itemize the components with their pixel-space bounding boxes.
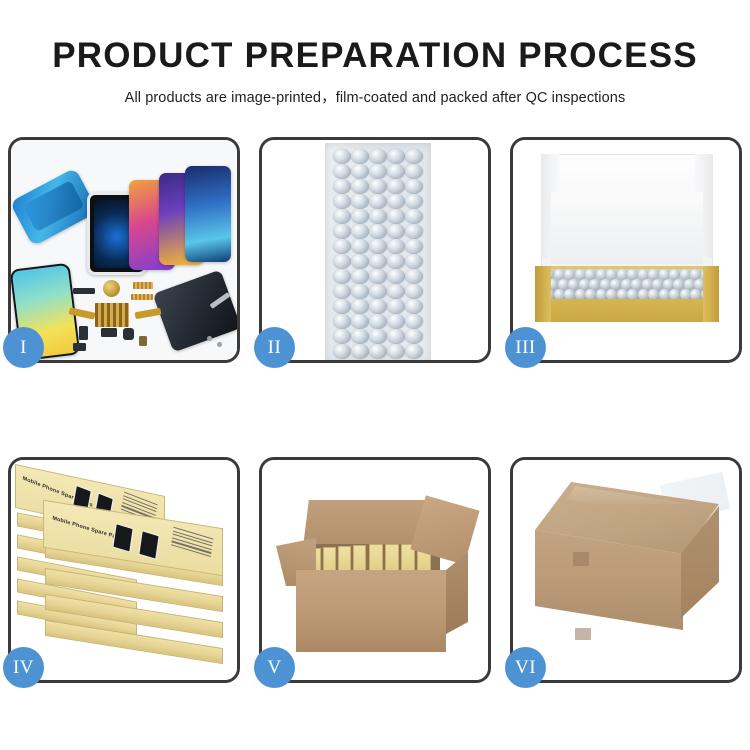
bubble (351, 254, 369, 269)
step-panel-6: VI (510, 457, 742, 683)
gold-contact-grid (95, 303, 129, 327)
bubble (333, 344, 351, 359)
bubble-wrap-pouch (325, 143, 431, 360)
bubble (387, 254, 405, 269)
bubble (333, 194, 351, 209)
step-5-image (262, 460, 488, 680)
bubble (351, 239, 369, 254)
bubble (405, 179, 423, 194)
bubble (351, 269, 369, 284)
bubble (648, 289, 659, 299)
step-badge-1: I (3, 327, 44, 368)
bubble (405, 224, 423, 239)
component-chip (123, 328, 134, 340)
bubble (351, 149, 369, 164)
bubble (387, 194, 405, 209)
bubble (387, 329, 405, 344)
bubble (617, 289, 628, 299)
screw-set (217, 342, 222, 347)
bubble (369, 224, 387, 239)
header: PRODUCT PREPARATION PROCESS All products… (0, 0, 750, 107)
bubble (369, 254, 387, 269)
bubble (387, 284, 405, 299)
phone-back-housing (153, 270, 237, 353)
bubble (575, 289, 586, 299)
bubble (333, 164, 351, 179)
bubble (387, 314, 405, 329)
bubble (627, 289, 638, 299)
bubble (405, 194, 423, 209)
bubble (369, 149, 387, 164)
bubble-wrapped-contents (543, 269, 711, 299)
bubble (351, 284, 369, 299)
bubble (387, 179, 405, 194)
bubble (333, 179, 351, 194)
bubble (351, 224, 369, 239)
product-preparation-infographic: PRODUCT PREPARATION PROCESS All products… (0, 0, 750, 750)
bubble (351, 179, 369, 194)
bubble (351, 344, 369, 359)
bubble (387, 344, 405, 359)
bubble (585, 289, 596, 299)
bubble (387, 209, 405, 224)
flex-cable (135, 308, 162, 319)
bubble (369, 239, 387, 254)
bubble (333, 269, 351, 284)
bubble (333, 239, 351, 254)
tape-tab (575, 628, 591, 640)
step-2-image (262, 140, 488, 360)
step-4-image: Mobile Phone Spare Parts Mobile Phone Sp… (11, 460, 237, 680)
step-3-image (513, 140, 739, 360)
component-chip (139, 336, 147, 346)
blue-lcd-panel (11, 168, 98, 247)
bubble (369, 209, 387, 224)
bubble (606, 289, 617, 299)
bubble (680, 289, 691, 299)
step-badge-5: V (254, 647, 295, 688)
step-panel-1: I (8, 137, 240, 363)
bubble (669, 289, 680, 299)
step-6-image (513, 460, 739, 680)
component-chip (101, 328, 117, 337)
step-badge-2: II (254, 327, 295, 368)
bubble (405, 239, 423, 254)
page-title: PRODUCT PREPARATION PROCESS (0, 38, 750, 75)
bubble (405, 299, 423, 314)
bubble-grid (333, 149, 423, 359)
bubble (351, 329, 369, 344)
carton-side-face (446, 552, 468, 634)
foam-insert (551, 192, 703, 264)
step-panel-3: III (510, 137, 742, 363)
step-panel-5: V (259, 457, 491, 683)
bubble (387, 164, 405, 179)
bubble (333, 329, 351, 344)
step-panel-2: II (259, 137, 491, 363)
page-subtitle: All products are image-printed，film-coat… (0, 86, 750, 107)
bubble (369, 344, 387, 359)
bubble (351, 299, 369, 314)
bubble (369, 164, 387, 179)
step-1-image (11, 140, 237, 360)
bubble (369, 299, 387, 314)
bubble (387, 239, 405, 254)
bubble (333, 209, 351, 224)
bubble (351, 194, 369, 209)
kraft-box-left-edge (535, 266, 551, 322)
bubble (351, 314, 369, 329)
bubble (369, 329, 387, 344)
phone-display-blue (185, 166, 231, 262)
carton-front-face (296, 570, 446, 652)
bubble (369, 179, 387, 194)
bubble (333, 314, 351, 329)
component-chip (73, 288, 95, 294)
component-chip (79, 326, 88, 340)
bubble (333, 284, 351, 299)
box-phone-graphic (112, 523, 133, 553)
bubble (405, 164, 423, 179)
step-badge-4: IV (3, 647, 44, 688)
box-phone-graphic (138, 530, 159, 560)
bubble (564, 289, 575, 299)
bubble (405, 149, 423, 164)
bubble (405, 269, 423, 284)
screw-set (207, 336, 212, 341)
bubble (333, 224, 351, 239)
bubble (405, 284, 423, 299)
bubble (554, 289, 565, 299)
bubble (387, 224, 405, 239)
bubble (638, 289, 649, 299)
bubble (387, 299, 405, 314)
bubble (333, 299, 351, 314)
bubble (369, 194, 387, 209)
bubble (369, 314, 387, 329)
component-chip (73, 343, 86, 351)
kraft-box-right-edge (703, 266, 719, 322)
bubble (405, 314, 423, 329)
bubble (351, 164, 369, 179)
bubble (405, 344, 423, 359)
bubble (387, 269, 405, 284)
box-spec-lines (171, 527, 214, 560)
bubble (690, 289, 701, 299)
bubble (351, 209, 369, 224)
bubble (405, 254, 423, 269)
bubble (659, 289, 670, 299)
step-badge-6: VI (505, 647, 546, 688)
bubble (387, 149, 405, 164)
step-panel-4: Mobile Phone Spare Parts Mobile Phone Sp… (8, 457, 240, 683)
connector-strip (131, 294, 153, 300)
bubble (369, 284, 387, 299)
tape-tab (573, 552, 589, 566)
retail-box-stack: Mobile Phone Spare Parts Mobile Phone Sp… (11, 460, 237, 680)
bubble (405, 209, 423, 224)
step-badge-3: III (505, 327, 546, 368)
bubble (596, 289, 607, 299)
process-steps-grid: I II III (8, 137, 742, 683)
bubble (333, 254, 351, 269)
bubble (333, 149, 351, 164)
bubble (405, 329, 423, 344)
speaker-coil-part (103, 280, 120, 297)
bubble (369, 269, 387, 284)
connector-strip (133, 282, 153, 289)
